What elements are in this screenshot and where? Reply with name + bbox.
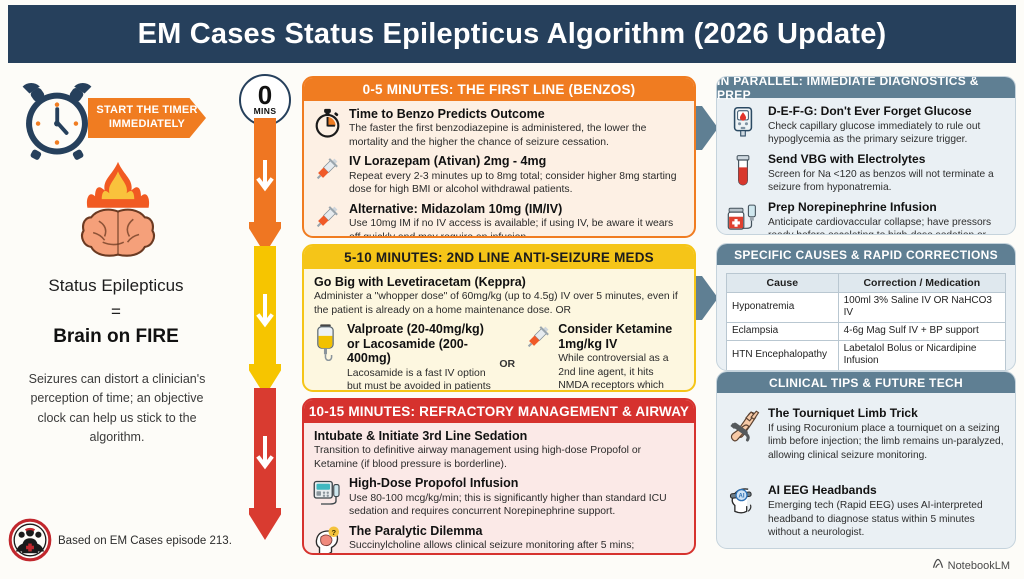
list-item: Send VBG with Electrolytes Screen for Na… [726,153,1006,195]
item-title: Valproate (20-40mg/kg) or Lacosamide (20… [347,322,491,365]
em-cases-logo-icon [8,518,52,562]
list-item: High-Dose Propofol Infusion Use 80-100 m… [312,476,686,518]
source-credit: Based on EM Cases episode 213. [58,535,238,547]
svg-text:?: ? [331,528,336,537]
ai-eeg-headband-icon: AI [726,484,760,539]
panel-clinical-tips-header: CLINICAL TIPS & FUTURE TECH [717,372,1015,393]
panel-benzos-body: Time to Benzo Predicts Outcome The faste… [304,101,694,238]
infographic-root: EM Cases Status Epilepticus Algorithm (2… [0,0,1024,579]
panel-diagnostics-header: IN PARALLEL: IMMEDIATE DIAGNOSTICS & PRE… [717,77,1015,98]
item-desc: Use 80-100 mcg/kg/min; this is significa… [349,492,686,519]
item-desc: While controversial as a 2nd line agent,… [558,352,686,392]
item-desc: Repeat every 2-3 minutes up to 8mg total… [349,170,686,197]
list-item: Valproate (20-40mg/kg) or Lacosamide (20… [312,322,491,392]
panel-second-line: 5-10 MINUTES: 2ND LINE ANTI-SEIZURE MEDS… [302,244,696,392]
list-item: IV Lorazepam (Ativan) 2mg - 4mg Repeat e… [312,154,686,196]
item-desc: If using Rocuronium place a tourniquet o… [768,422,1006,463]
table-row: Eclampsia 4-6g Mag Sulf IV + BP support [727,322,1006,340]
item-desc: Transition to definitive airway manageme… [314,444,686,471]
list-item: ? The Paralytic Dilemma Succinylcholine … [312,524,686,555]
notebooklm-label: NotebookLM [948,560,1010,572]
left-column: START THE TIMER IMMEDIATELY Status Epile… [0,70,232,579]
vial-infusion-icon [726,201,760,235]
list-item: Alternative: Midazolam 10mg (IM/IV) Use … [312,202,686,238]
status-epilepticus-label: Status Epilepticus [0,276,232,296]
brain-on-fire-icon [70,158,166,268]
list-item: Prep Norepinephrine Infusion Anticipate … [726,201,1006,235]
panel-clinical-tips: CLINICAL TIPS & FUTURE TECH The Tourn [716,371,1016,549]
item-title: D-E-F-G: Don't Ever Forget Glucose [768,105,1006,119]
page-header: EM Cases Status Epilepticus Algorithm (2… [8,5,1016,63]
item-title: Prep Norepinephrine Infusion [768,201,1006,215]
item-title: AI EEG Headbands [768,484,1006,498]
list-item: Go Big with Levetiracetam (Keppra) Admin… [312,275,686,317]
panel-refractory: 10-15 MINUTES: REFRACTORY MANAGEMENT & A… [302,398,696,555]
tourniquet-arm-icon [726,407,760,462]
or-separator-label: OR [496,322,518,370]
paralysis-question-head-icon: ? [312,524,342,555]
syringe-icon [312,202,342,238]
table-header-correction: Correction / Medication [838,274,1005,293]
mins-label: MINS [254,106,277,116]
list-item: D-E-F-G: Don't Ever Forget Glucose Check… [726,105,1006,147]
item-title: Go Big with Levetiracetam (Keppra) [314,275,686,289]
syringe-icon [312,154,342,196]
timer-rationale-note: Seizures can distort a clinician's perce… [22,370,212,448]
timeline-arrow-red [249,388,281,540]
item-title: High-Dose Propofol Infusion [349,476,686,490]
item-title: IV Lorazepam (Ativan) 2mg - 4mg [349,154,686,168]
list-item: Intubate & Initiate 3rd Line Sedation Tr… [312,429,686,471]
list-item: Consider Ketamine 1mg/kg IV While contro… [523,322,686,392]
table-cell-cause: Eclampsia [727,322,839,340]
panel-diagnostics: IN PARALLEL: IMMEDIATE DIAGNOSTICS & PRE… [716,76,1016,235]
table-cell-correction: 4-6g Mag Sulf IV + BP support [838,322,1005,340]
blood-tube-icon [726,153,760,195]
item-desc: Emerging tech (Rapid EEG) uses AI-interp… [768,499,1006,540]
item-desc: Screen for Na <120 as benzos will not te… [768,168,1006,195]
item-desc: Anticipate cardiovaccular collapse; have… [768,216,1006,235]
page-title: EM Cases Status Epilepticus Algorithm (2… [138,18,887,51]
panel-diagnostics-body: D-E-F-G: Don't Ever Forget Glucose Check… [717,98,1015,235]
table-cell-correction: 100ml 3% Saline IV OR NaHCO3 IV [838,292,1005,322]
glucometer-icon [726,105,760,147]
timeline-column: 0 MINS [232,70,298,579]
item-desc: The faster the first benzodiazepine is a… [349,122,686,149]
item-title: Time to Benzo Predicts Outcome [349,107,686,121]
item-title: Alternative: Midazolam 10mg (IM/IV) [349,202,686,216]
svg-text:AI: AI [738,494,744,500]
panel-specific-causes-body: Cause Correction / Medication Hyponatrem… [717,265,1015,371]
stopwatch-icon [312,107,342,149]
iv-bag-icon [312,322,342,392]
item-title: Consider Ketamine 1mg/kg IV [558,322,686,351]
mins-value: 0 [258,84,272,106]
list-item: The Tourniquet Limb Trick If using Rocur… [726,407,1006,462]
panel-specific-causes: SPECIFIC CAUSES & RAPID CORRECTIONS Caus… [716,243,1016,371]
notebooklm-watermark: NotebookLM [932,558,1010,573]
alarm-clock-icon [14,78,100,164]
timeline-arrow-orange [249,118,281,254]
table-header-row: Cause Correction / Medication [727,274,1006,293]
start-timer-banner: START THE TIMER IMMEDIATELY [88,98,206,138]
causes-table: Cause Correction / Medication Hyponatrem… [726,273,1006,371]
timer-banner-line1: START THE TIMER [96,104,197,118]
panel-specific-causes-header: SPECIFIC CAUSES & RAPID CORRECTIONS [717,244,1015,265]
item-desc: Administer a "whopper dose" of 60mg/kg (… [314,290,686,317]
item-title: The Tourniquet Limb Trick [768,407,1006,421]
item-title: Intubate & Initiate 3rd Line Sedation [314,429,686,443]
item-desc: Succinylcholine allows clinical seizure … [349,539,686,555]
panel-second-line-header: 5-10 MINUTES: 2ND LINE ANTI-SEIZURE MEDS [304,246,694,269]
table-cell-correction: Labetalol Bolus or Nicardipine Infusion [838,340,1005,370]
table-cell-cause: HTN Encephalopathy [727,340,839,370]
list-item: AI AI EEG Headbands Emerging tech (Rapid… [726,484,1006,539]
table-row: HTN Encephalopathy Labetalol Bolus or Ni… [727,340,1006,370]
panel-refractory-body: Intubate & Initiate 3rd Line Sedation Tr… [304,423,694,555]
panel-clinical-tips-body: The Tourniquet Limb Trick If using Rocur… [717,393,1015,548]
panel-second-line-body: Go Big with Levetiracetam (Keppra) Admin… [304,269,694,392]
timer-banner-line2: IMMEDIATELY [109,118,185,132]
table-header-cause: Cause [727,274,839,293]
timeline-arrow-yellow [249,246,281,396]
panel-refractory-header: 10-15 MINUTES: REFRACTORY MANAGEMENT & A… [304,400,694,423]
second-line-options: Valproate (20-40mg/kg) or Lacosamide (20… [312,322,686,392]
panel-benzos-header: 0-5 MINUTES: THE FIRST LINE (BENZOS) [304,78,694,101]
item-title: The Paralytic Dilemma [349,524,686,538]
item-title: Send VBG with Electrolytes [768,153,1006,167]
item-desc: Use 10mg IM if no IV access is available… [349,217,686,238]
syringe-icon [523,322,553,392]
table-row: Hyponatremia 100ml 3% Saline IV OR NaHCO… [727,292,1006,322]
notebooklm-icon [932,558,944,573]
item-desc: Lacosamide is a fast IV option but must … [347,367,491,392]
list-item: Time to Benzo Predicts Outcome The faste… [312,107,686,149]
panel-benzos: 0-5 MINUTES: THE FIRST LINE (BENZOS) [302,76,696,238]
infusion-pump-icon [312,476,342,518]
brain-on-fire-label: Brain on FIRE [0,326,232,348]
equals-sign: = [0,302,232,322]
table-cell-cause: Hyponatremia [727,292,839,322]
item-desc: Check capillary glucose immediately to r… [768,120,1006,147]
